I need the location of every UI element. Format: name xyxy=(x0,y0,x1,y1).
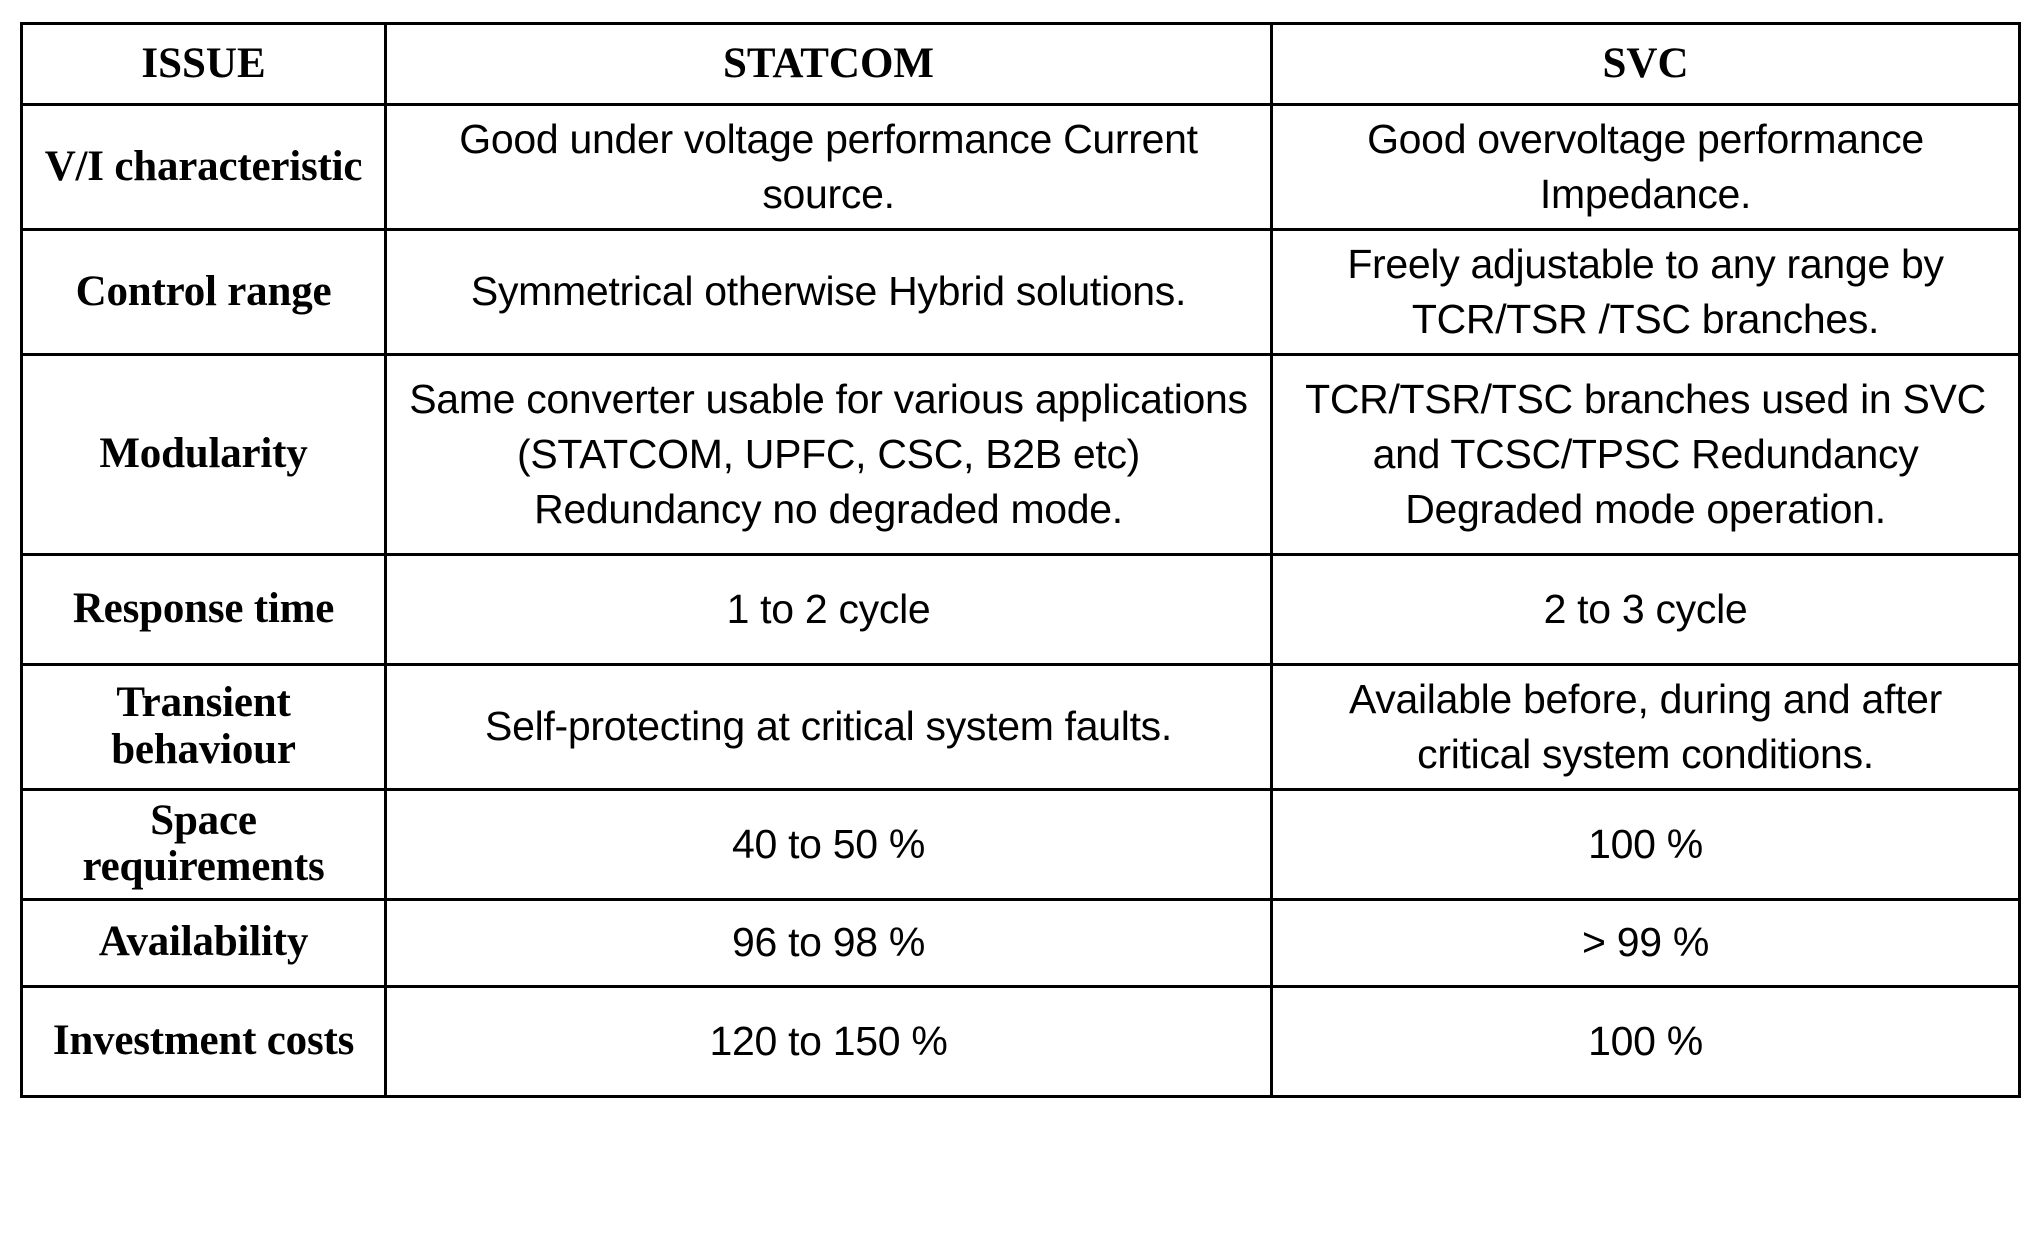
table-header-row: ISSUE STATCOM SVC xyxy=(22,24,2020,105)
row-svc-value: 100 % xyxy=(1272,986,2020,1096)
table-row: Transient behaviour Self-protecting at c… xyxy=(22,664,2020,789)
row-issue-label: Investment costs xyxy=(22,986,386,1096)
table-row: Investment costs 120 to 150 % 100 % xyxy=(22,986,2020,1096)
row-issue-label: Control range xyxy=(22,229,386,354)
table-row: Space requirements 40 to 50 % 100 % xyxy=(22,789,2020,899)
row-svc-value: 100 % xyxy=(1272,789,2020,899)
table-header: ISSUE STATCOM SVC xyxy=(22,24,2020,105)
table-row: Modularity Same converter usable for var… xyxy=(22,354,2020,554)
row-svc-value: Freely adjustable to any range by TCR/TS… xyxy=(1272,229,2020,354)
row-svc-value: Available before, during and after criti… xyxy=(1272,664,2020,789)
table-body: V/I characteristic Good under voltage pe… xyxy=(22,105,2020,1097)
row-issue-label: V/I characteristic xyxy=(22,105,386,230)
row-svc-value: 2 to 3 cycle xyxy=(1272,554,2020,664)
row-statcom-value: Good under voltage performance Current s… xyxy=(386,105,1272,230)
row-issue-label: Availability xyxy=(22,899,386,986)
table-row: Response time 1 to 2 cycle 2 to 3 cycle xyxy=(22,554,2020,664)
row-statcom-value: Symmetrical otherwise Hybrid solutions. xyxy=(386,229,1272,354)
page-root: ISSUE STATCOM SVC V/I characteristic Goo… xyxy=(0,0,2025,1250)
comparison-table-container: ISSUE STATCOM SVC V/I characteristic Goo… xyxy=(20,22,2018,1098)
row-statcom-value: 96 to 98 % xyxy=(386,899,1272,986)
table-row: V/I characteristic Good under voltage pe… xyxy=(22,105,2020,230)
table-row: Availability 96 to 98 % > 99 % xyxy=(22,899,2020,986)
row-svc-value: TCR/TSR/TSC branches used in SVC and TCS… xyxy=(1272,354,2020,554)
row-issue-label: Transient behaviour xyxy=(22,664,386,789)
row-svc-value: Good overvoltage performance Impedance. xyxy=(1272,105,2020,230)
row-statcom-value: 40 to 50 % xyxy=(386,789,1272,899)
row-issue-label: Modularity xyxy=(22,354,386,554)
row-statcom-value: 1 to 2 cycle xyxy=(386,554,1272,664)
statcom-svc-comparison-table: ISSUE STATCOM SVC V/I characteristic Goo… xyxy=(20,22,2021,1098)
table-row: Control range Symmetrical otherwise Hybr… xyxy=(22,229,2020,354)
row-issue-label: Response time xyxy=(22,554,386,664)
row-statcom-value: Self-protecting at critical system fault… xyxy=(386,664,1272,789)
column-header-svc: SVC xyxy=(1272,24,2020,105)
row-statcom-value: Same converter usable for various applic… xyxy=(386,354,1272,554)
column-header-issue: ISSUE xyxy=(22,24,386,105)
row-statcom-value: 120 to 150 % xyxy=(386,986,1272,1096)
row-svc-value: > 99 % xyxy=(1272,899,2020,986)
column-header-statcom: STATCOM xyxy=(386,24,1272,105)
row-issue-label: Space requirements xyxy=(22,789,386,899)
